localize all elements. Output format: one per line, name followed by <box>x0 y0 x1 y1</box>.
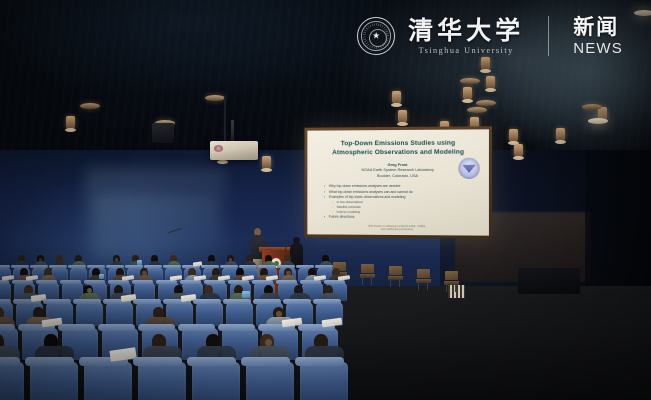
chair-leg <box>371 277 372 285</box>
ceiling-spotlight-icon <box>392 91 401 104</box>
ceiling-light-disc-icon <box>476 100 496 106</box>
projector-mount <box>231 120 234 142</box>
ceiling-spotlight-icon <box>556 128 565 141</box>
audience-face <box>87 288 92 293</box>
seat-armrest <box>315 265 332 268</box>
ceiling-light-disc-icon <box>205 95 225 101</box>
auditorium-seat <box>0 362 24 400</box>
projector-lens <box>214 145 223 152</box>
seat-armrest <box>0 357 20 367</box>
ceiling-spotlight-icon <box>509 129 518 142</box>
ceiling-rail <box>224 96 226 142</box>
auditorium-seat <box>196 302 223 327</box>
seat-armrest <box>138 324 175 331</box>
lecture-hall-photo: Top-Down Emissions Studies using Atmosph… <box>0 0 651 400</box>
wall-speaker <box>152 123 174 143</box>
seat-armrest <box>36 280 57 284</box>
ceiling-spotlight-icon <box>463 87 472 100</box>
slide-bullet-list: Why top-down emissions analyses are need… <box>316 184 481 220</box>
ceiling-light-disc-icon <box>634 10 651 16</box>
seat-armrest <box>133 299 161 304</box>
slide-credit: With thanks to colleagues at NOAA ESRL, … <box>307 224 489 232</box>
seat-armrest <box>193 299 221 304</box>
slide-location: Boulder, Colorado, USA <box>316 173 481 179</box>
auditorium-seat <box>76 302 103 327</box>
chair-leg <box>362 277 363 285</box>
chair-leg <box>455 284 456 292</box>
chair-leg <box>418 282 419 290</box>
chair-back <box>361 264 374 273</box>
seat-armrest <box>49 265 66 268</box>
slide-author-block: Greg Frost NOAA Earth System Research La… <box>316 162 481 179</box>
ceiling-light-disc-icon <box>588 118 608 124</box>
seat-armrest <box>187 357 236 367</box>
mobile-device <box>99 274 105 279</box>
slide-credit-line2: and collaborating institutions <box>307 228 489 233</box>
ceiling-light-disc-icon <box>582 104 602 110</box>
back-wall-chair <box>360 264 375 284</box>
chair-back <box>389 266 402 275</box>
auditorium-seat <box>138 362 186 400</box>
noaa-logo <box>458 158 479 179</box>
slide-bullet: Future directions <box>324 214 481 220</box>
seat-armrest <box>144 265 161 268</box>
chair-leg <box>399 279 400 287</box>
seat-armrest <box>0 265 10 268</box>
seat-armrest <box>295 357 344 367</box>
projection-screen: Top-Down Emissions Studies using Atmosph… <box>304 126 492 238</box>
seat-armrest <box>25 357 74 367</box>
audience-face <box>276 311 282 317</box>
back-wall-chair <box>388 266 403 286</box>
mobile-device <box>242 291 250 298</box>
seat-armrest <box>223 299 251 304</box>
chair-leg <box>427 282 428 290</box>
seat-armrest <box>125 265 142 268</box>
ceiling-spotlight-icon <box>481 57 490 70</box>
seat-armrest <box>0 324 15 331</box>
seat-armrest <box>58 324 95 331</box>
auditorium-seat <box>300 362 348 400</box>
seat-armrest <box>178 324 215 331</box>
presentation-slide: Top-Down Emissions Studies using Atmosph… <box>307 129 489 235</box>
auditorium-seat <box>84 362 132 400</box>
seat-armrest <box>133 357 182 367</box>
ceiling-spotlight-icon <box>398 110 407 123</box>
mobile-device <box>137 260 142 264</box>
seat-armrest <box>218 324 255 331</box>
slide-title-line2: Atmospheric Observations and Modeling <box>320 148 477 158</box>
seat-armrest <box>60 280 81 284</box>
seat-armrest <box>241 357 290 367</box>
seat-armrest <box>0 299 11 304</box>
seat-armrest <box>98 324 135 331</box>
wall-light-patch-secondary <box>95 196 215 256</box>
chair-leg <box>390 279 391 287</box>
chair-back <box>417 269 430 278</box>
slide-title: Top-Down Emissions Studies using Atmosph… <box>316 136 481 157</box>
chair-back <box>445 271 458 280</box>
seat-armrest <box>68 265 85 268</box>
stage-equipment-box <box>518 268 580 294</box>
seat-armrest <box>163 265 180 268</box>
auditorium-seat <box>106 302 133 327</box>
ceiling-spotlight-icon <box>486 76 495 89</box>
auditorium-seat <box>30 362 78 400</box>
seat-armrest <box>43 299 71 304</box>
ceiling-spotlight-icon <box>514 144 523 157</box>
ceiling-light-disc-icon <box>467 107 487 113</box>
auditorium-seat <box>226 302 253 327</box>
audience-face <box>142 271 146 275</box>
seat-armrest <box>132 280 153 284</box>
back-wall-chair <box>416 269 431 289</box>
auditorium-seat <box>192 362 240 400</box>
ceiling-light-disc-icon <box>460 78 480 84</box>
ceiling-spotlight-icon <box>262 156 271 169</box>
seat-armrest <box>253 299 281 304</box>
seat-armrest <box>313 299 341 304</box>
ceiling-spotlight-icon <box>66 116 75 129</box>
back-wall-chair <box>444 271 459 291</box>
seat-armrest <box>276 280 297 284</box>
seat-armrest <box>220 265 237 268</box>
audience-face <box>286 271 290 275</box>
seat-armrest <box>283 299 311 304</box>
seat-armrest <box>73 299 101 304</box>
seat-armrest <box>84 280 105 284</box>
auditorium-seat <box>246 362 294 400</box>
chair-leg <box>446 284 447 292</box>
ceiling-light-disc-icon <box>80 103 100 109</box>
